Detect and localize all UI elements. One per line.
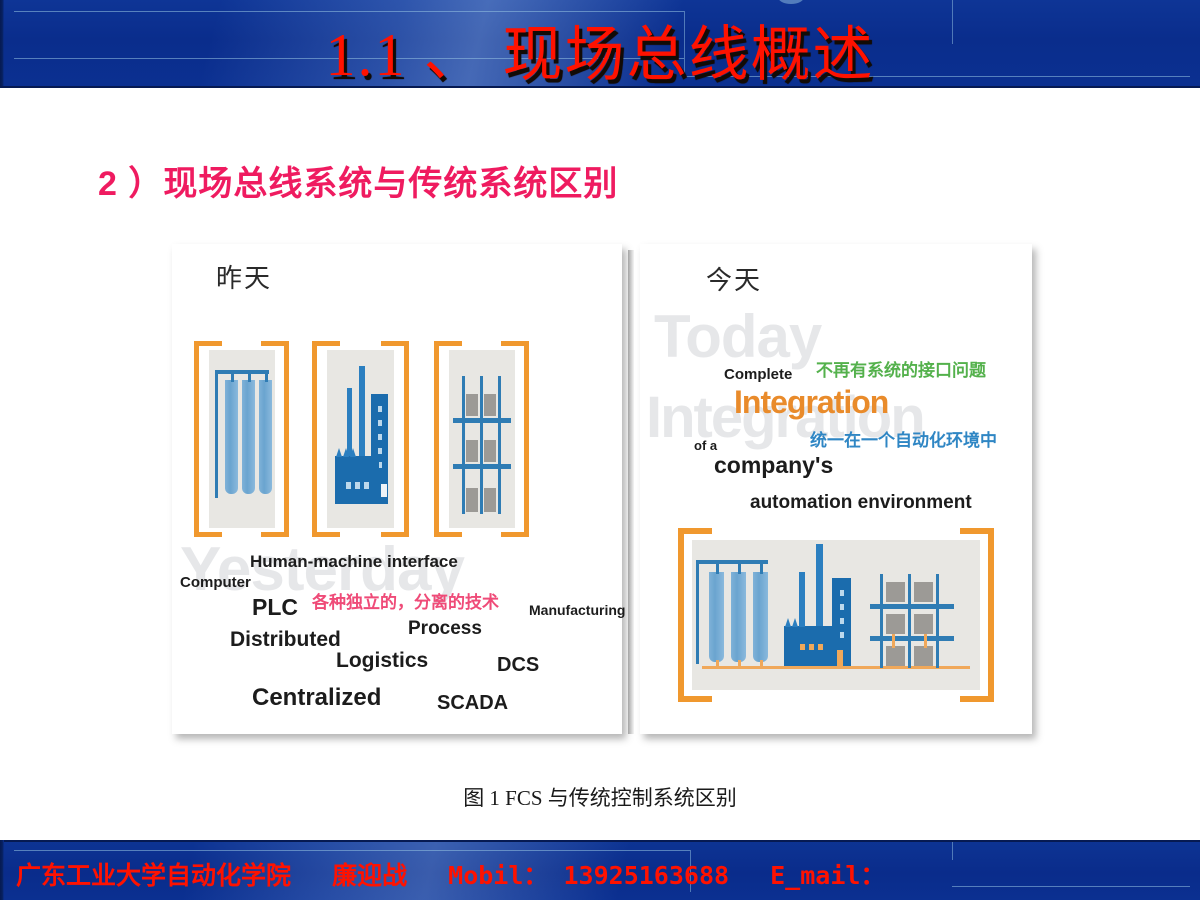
word-plc: PLC [252,594,298,621]
illustration-warehouse-racks-1 [449,350,515,528]
highlight-note-yesterday: 各种独立的，分离的技术 [312,588,499,613]
footer-contact-line: 广东工业大学自动化学院 廉迎战 Mobil： 13925163688 E_mai… [16,856,885,892]
phrase-companys: company's [714,452,833,479]
illustration-integrated-plant [692,540,980,690]
slide-footer-banner: 广东工业大学自动化学院 廉迎战 Mobil： 13925163688 E_mai… [0,840,1200,900]
footer-organization: 广东工业大学自动化学院 [16,861,291,890]
word-distributed: Distributed [230,628,341,652]
slide-header-banner: 1.1 、 现场总线概述 [0,0,1200,88]
word-logistics: Manufacturing [529,602,625,618]
phrase-complete: Complete [724,366,792,383]
watermark-today: Today [654,302,821,371]
note-blue-cn: 统一在一个自动化环境中 [810,426,997,451]
figure-caption: 图 1 FCS 与传统控制系统区别 [0,782,1200,812]
footer-decor-line-1 [14,850,690,851]
slide: 1.1 、 现场总线概述 2 ）现场总线系统与传统系统区别 Yesterday … [0,0,1200,900]
figure-container: Yesterday 昨天 [172,244,1032,744]
word-scada: SCADA [437,692,508,715]
note-green-cn: 不再有系统的接口问题 [816,356,986,381]
footer-left-edge [0,840,4,900]
footer-top-edge [0,840,1200,842]
word-process: Process [408,618,482,640]
word-dcs: DCS [497,654,539,677]
phrase-integration: Integration [734,384,888,421]
word-human-machine-interface: Human-machine interface [250,552,458,572]
word-manufacturing: Logistics [336,649,428,673]
footer-mobile-label: Mobil： [448,861,548,890]
footer-email-label: E_mail： [770,861,885,890]
footer-mobile-number: 13925163688 [563,861,729,890]
word-centralized: Centralized [252,684,381,712]
word-computer: Computer [180,574,251,591]
illustration-storage-tanks-1 [209,350,275,528]
figure-panel-yesterday: Yesterday 昨天 [172,244,622,734]
label-today-cn: 今天 [706,260,762,297]
label-yesterday-cn: 昨天 [216,258,272,295]
footer-decor-line-2 [952,886,1190,887]
footer-decor-vline-2 [952,840,953,860]
footer-person: 廉迎战 [332,861,407,890]
phrase-automation-environment: automation environment [750,492,972,514]
section-subtitle: 2 ）现场总线系统与传统系统区别 [98,156,618,205]
phrase-of-a: of a [694,438,717,453]
panel-divider [628,250,634,734]
illustration-factory-1 [327,350,394,528]
page-title: 1.1 、 现场总线概述 [0,6,1200,88]
figure-panel-today: Today Integration 今天 Complete Integratio… [640,244,1032,734]
